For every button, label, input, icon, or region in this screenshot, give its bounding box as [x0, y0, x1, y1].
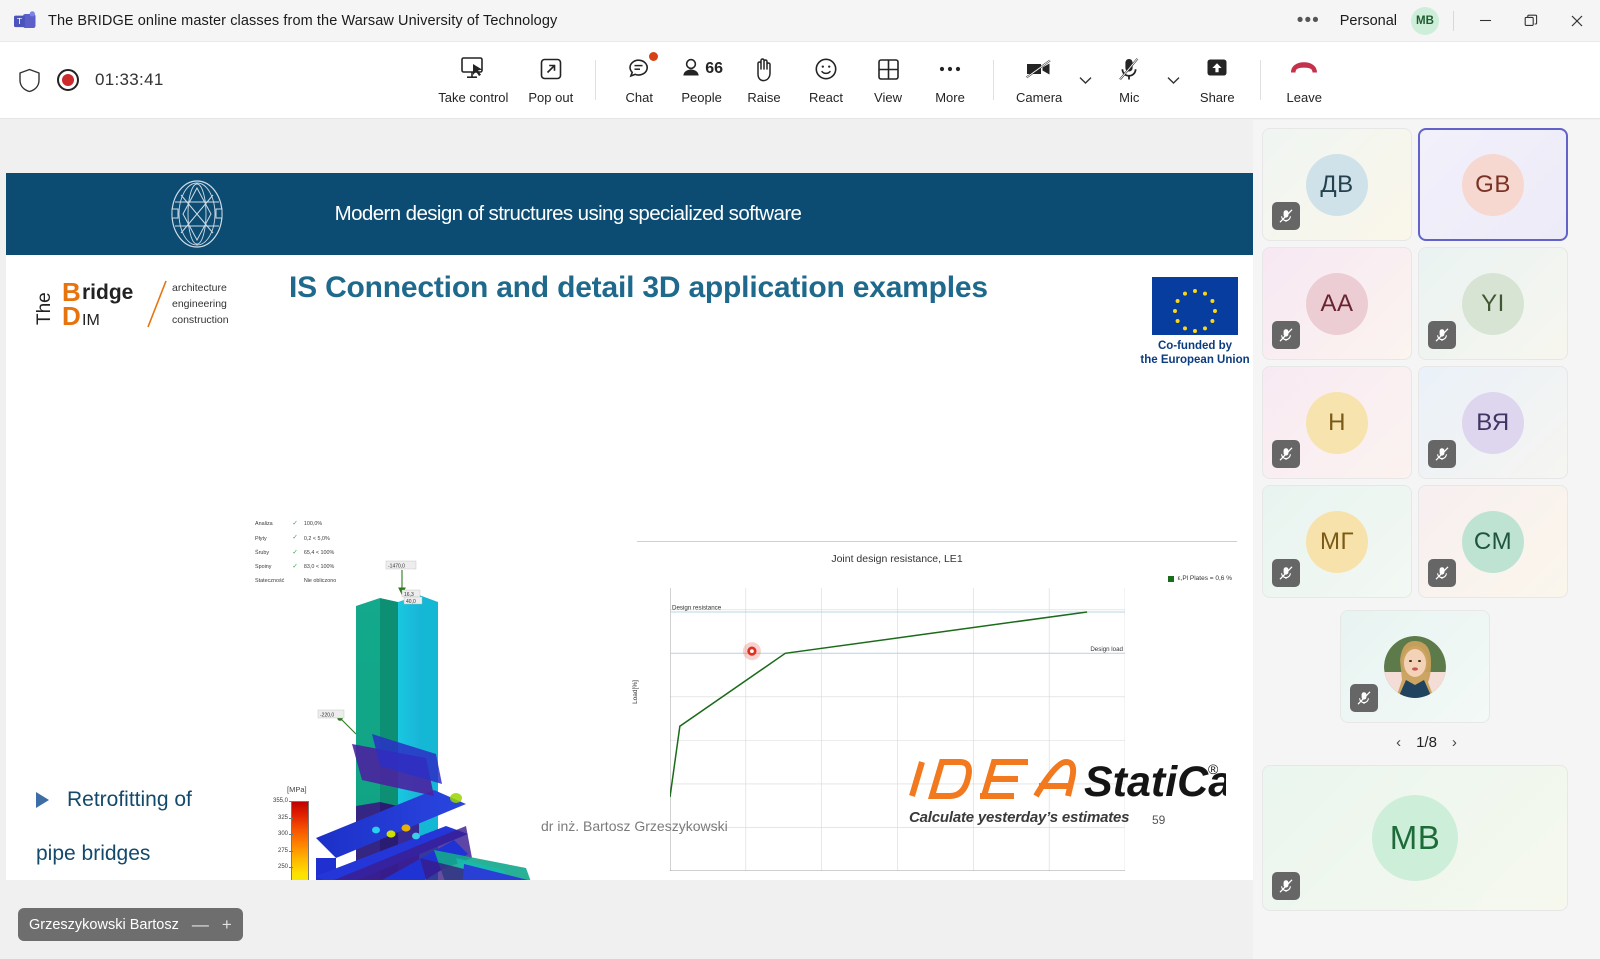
- chart-reference-label: Design resistance: [672, 604, 722, 611]
- scale-tick-label: 355,0: [273, 798, 288, 804]
- chat-unread-badge: [649, 52, 658, 61]
- check-name: Analiza: [255, 518, 290, 530]
- scale-tick-label: 325: [278, 815, 288, 821]
- divider: [595, 60, 596, 100]
- react-button[interactable]: React: [795, 49, 857, 111]
- scale-tick-mark: [289, 834, 293, 835]
- participant-tile[interactable]: [1340, 610, 1490, 723]
- scale-tick-mark: [289, 818, 293, 819]
- participant-tile[interactable]: ВЯ: [1418, 366, 1568, 479]
- take-control-button[interactable]: Take control: [428, 49, 518, 111]
- restore-button[interactable]: [1508, 0, 1554, 42]
- eu-caption: Co-funded by the European Union: [1139, 339, 1251, 368]
- pager-prev-button[interactable]: ‹: [1396, 734, 1401, 751]
- legend-swatch: [1168, 576, 1174, 582]
- check-row: Płyty✓0,2 < 5,0%: [255, 532, 342, 544]
- mic-muted-icon: [1350, 684, 1378, 712]
- check-row: Analiza✓100,0%: [255, 518, 342, 530]
- check-name: Śruby: [255, 547, 290, 559]
- the-bridge-bim-logo: The B ridge D IM architecture engineerin…: [36, 273, 256, 335]
- presenter-name-chip[interactable]: Grzeszykowski Bartosz — +: [18, 908, 243, 941]
- svg-text:engineering: engineering: [172, 298, 227, 310]
- mic-chevron-down-icon[interactable]: [1160, 58, 1186, 102]
- retrofitting-line-1: Retrofitting of: [36, 773, 266, 827]
- chat-icon: [626, 53, 653, 85]
- retrofitting-line-2: pipe bridges: [36, 827, 266, 880]
- scale-tick-mark: [289, 851, 293, 852]
- slide-band-title: Modern design of structures using specia…: [233, 199, 1253, 230]
- check-status-icon: ✓: [292, 547, 301, 559]
- view-button[interactable]: View: [857, 49, 919, 111]
- divider: [1260, 60, 1261, 100]
- chart-title: Joint design resistance, LE1: [637, 553, 1157, 565]
- camera-chevron-down-icon[interactable]: [1072, 58, 1098, 102]
- shared-content-stage[interactable]: Modern design of structures using specia…: [0, 120, 1253, 959]
- ellipsis-icon: [937, 53, 963, 85]
- mic-muted-icon: [1428, 559, 1456, 587]
- svg-text:IM: IM: [82, 312, 100, 329]
- wut-emblem-icon: [161, 178, 233, 250]
- idea-statica-tagline: Calculate yesterday’s estimates: [909, 809, 1129, 826]
- avatar: GB: [1462, 154, 1524, 216]
- pager-next-button[interactable]: ›: [1452, 734, 1457, 751]
- mic-label: Mic: [1119, 90, 1139, 105]
- slide-header-band: Modern design of structures using specia…: [6, 173, 1253, 255]
- person-icon: 66: [680, 53, 723, 85]
- check-name: Płyty: [255, 532, 290, 544]
- more-label: More: [935, 90, 965, 105]
- divider: [993, 60, 994, 100]
- svg-text:ridge: ridge: [82, 281, 133, 304]
- check-status-icon: ✓: [292, 532, 301, 544]
- check-value: 100,0%: [304, 518, 342, 530]
- window-title: The BRIDGE online master classes from th…: [48, 13, 557, 29]
- chat-button[interactable]: Chat: [608, 49, 670, 111]
- svg-text:T: T: [17, 16, 22, 26]
- scale-tick-label: 250: [278, 864, 288, 870]
- participant-tile[interactable]: H: [1262, 366, 1412, 479]
- title-bar: T The BRIDGE online master classes from …: [0, 0, 1600, 42]
- smiley-icon: [813, 53, 839, 85]
- avatar[interactable]: MB: [1411, 7, 1439, 35]
- avatar: YI: [1462, 273, 1524, 335]
- mic-muted-icon: [1428, 440, 1456, 468]
- mic-muted-icon: [1428, 321, 1456, 349]
- pop-out-icon: [538, 53, 564, 85]
- stress-color-scale: [291, 801, 309, 880]
- chart-y-axis-label: Load[%]: [632, 680, 639, 704]
- hand-icon: [752, 53, 776, 85]
- avatar: MB: [1372, 795, 1458, 881]
- svg-text:D: D: [62, 301, 81, 331]
- people-button[interactable]: 66 People: [670, 49, 733, 111]
- close-button[interactable]: [1554, 0, 1600, 42]
- presentation-slide[interactable]: Modern design of structures using specia…: [6, 173, 1253, 880]
- react-label: React: [809, 90, 843, 105]
- check-status-icon: ✓: [292, 518, 301, 530]
- raise-label: Raise: [747, 90, 780, 105]
- participant-tile[interactable]: ДВ: [1262, 128, 1412, 241]
- participant-tile[interactable]: CM: [1418, 485, 1568, 598]
- check-status-icon: ✓: [292, 561, 301, 573]
- avatar: H: [1306, 392, 1368, 454]
- take-control-label: Take control: [438, 90, 508, 105]
- svg-text:StatiCa: StatiCa: [1084, 758, 1226, 806]
- scale-tick-label: 300: [278, 831, 288, 837]
- teams-icon: T: [14, 10, 36, 32]
- hangup-icon: [1288, 53, 1320, 85]
- pager-label: 1/8: [1416, 734, 1437, 751]
- screen-cursor-icon: [458, 53, 488, 85]
- participant-tile[interactable]: AA: [1262, 247, 1412, 360]
- camera-label: Camera: [1016, 90, 1062, 105]
- self-video-tile[interactable]: MB: [1262, 765, 1568, 911]
- stress-scale-unit: [MPa]: [287, 785, 307, 794]
- people-label: People: [681, 90, 721, 105]
- mic-muted-icon: [1272, 321, 1300, 349]
- eu-flag-icon: [1152, 277, 1238, 335]
- grid-icon: [876, 53, 901, 85]
- participant-tile[interactable]: МГ: [1262, 485, 1412, 598]
- avatar-photo: [1384, 636, 1446, 698]
- svg-text:®: ®: [1208, 761, 1219, 777]
- account-type-label[interactable]: Personal: [1332, 13, 1405, 29]
- pop-out-button[interactable]: Pop out: [518, 49, 583, 111]
- svg-text:-1470,0: -1470,0: [388, 564, 405, 570]
- svg-text:construction: construction: [172, 314, 229, 326]
- leave-button[interactable]: Leave: [1273, 49, 1335, 111]
- author-caption: dr inż. Bartosz Grzeszykowski: [541, 818, 728, 834]
- self-tile-container: MB: [1262, 765, 1591, 911]
- eu-caption-line2: the European Union: [1140, 354, 1249, 366]
- participant-tile[interactable]: GB: [1418, 128, 1568, 241]
- more-button[interactable]: More: [919, 49, 981, 111]
- camera-button[interactable]: Camera: [1006, 49, 1072, 111]
- check-name: Stateczność: [255, 576, 290, 586]
- meeting-timer: 01:33:41: [95, 70, 164, 90]
- meeting-toolbar: 01:33:41 Take control: [0, 42, 1600, 119]
- people-count: 66: [705, 60, 723, 78]
- overflow-menu-button[interactable]: •••: [1285, 11, 1332, 30]
- scale-tick-mark: [289, 801, 293, 802]
- participant-roster-panel: ДВGBAAYIHВЯМГCM ‹ 1/8 › MB: [1253, 120, 1600, 959]
- current-state-marker-center: [750, 649, 754, 653]
- eu-caption-line1: Co-funded by: [1158, 340, 1232, 352]
- mic-button[interactable]: Mic: [1098, 49, 1160, 111]
- svg-text:architecture: architecture: [172, 282, 227, 294]
- participant-tile[interactable]: YI: [1418, 247, 1568, 360]
- scale-tick-mark: [289, 867, 293, 868]
- mic-muted-icon: [1272, 202, 1300, 230]
- pop-out-label: Pop out: [528, 90, 573, 105]
- zoom-out-button[interactable]: —: [192, 916, 209, 933]
- share-up-icon: [1204, 53, 1230, 85]
- raise-hand-button[interactable]: Raise: [733, 49, 795, 111]
- presenter-name: Grzeszykowski Bartosz: [29, 917, 179, 933]
- share-button[interactable]: Share: [1186, 49, 1248, 111]
- bullet-triangle-icon: [36, 792, 49, 808]
- mic-muted-icon: [1272, 440, 1300, 468]
- shield-icon[interactable]: [18, 68, 41, 93]
- camera-off-icon: [1023, 53, 1055, 85]
- slide-number: 59: [1152, 813, 1165, 827]
- legend-label: ε,Pl Plates = 0,6 %: [1178, 575, 1232, 582]
- check-value: 0,2 < 5,0%: [304, 532, 342, 544]
- scale-tick-label: 275: [278, 848, 288, 854]
- recording-icon[interactable]: [57, 69, 79, 91]
- mic-muted-icon: [1272, 872, 1300, 900]
- roster-pager: ‹ 1/8 ›: [1262, 734, 1591, 751]
- chart-legend: ε,Pl Plates = 0,6 %: [1168, 575, 1232, 582]
- chart-reference-label: Design load: [1090, 646, 1123, 653]
- check-status-icon: [292, 576, 301, 586]
- stress-scale-ticks: 355,032530027525022520017515012510075502…: [264, 801, 288, 880]
- svg-text:The: The: [36, 292, 55, 325]
- chat-label: Chat: [625, 90, 652, 105]
- avatar: AA: [1306, 273, 1368, 335]
- mic-off-icon: [1117, 53, 1141, 85]
- avatar: МГ: [1306, 511, 1368, 573]
- zoom-in-button[interactable]: +: [222, 916, 232, 933]
- teams-meeting-window: T The BRIDGE online master classes from …: [0, 0, 1600, 959]
- svg-text:40,0: 40,0: [406, 599, 416, 605]
- retrofitting-text-block: Retrofitting of pipe bridges: [36, 773, 266, 880]
- check-name: Spoiny: [255, 561, 290, 573]
- avatar: ДВ: [1306, 154, 1368, 216]
- slide-title: IS Connection and detail 3D application …: [289, 271, 988, 305]
- mic-muted-icon: [1272, 559, 1300, 587]
- view-label: View: [874, 90, 902, 105]
- leave-label: Leave: [1287, 90, 1322, 105]
- divider: [1453, 11, 1454, 31]
- avatar: CM: [1462, 511, 1524, 573]
- avatar: ВЯ: [1462, 392, 1524, 454]
- svg-text:-220,0: -220,0: [320, 712, 334, 718]
- minimize-button[interactable]: [1462, 0, 1508, 42]
- participant-tile-grid: ДВGBAAYIHВЯМГCM: [1262, 128, 1591, 723]
- share-label: Share: [1200, 90, 1235, 105]
